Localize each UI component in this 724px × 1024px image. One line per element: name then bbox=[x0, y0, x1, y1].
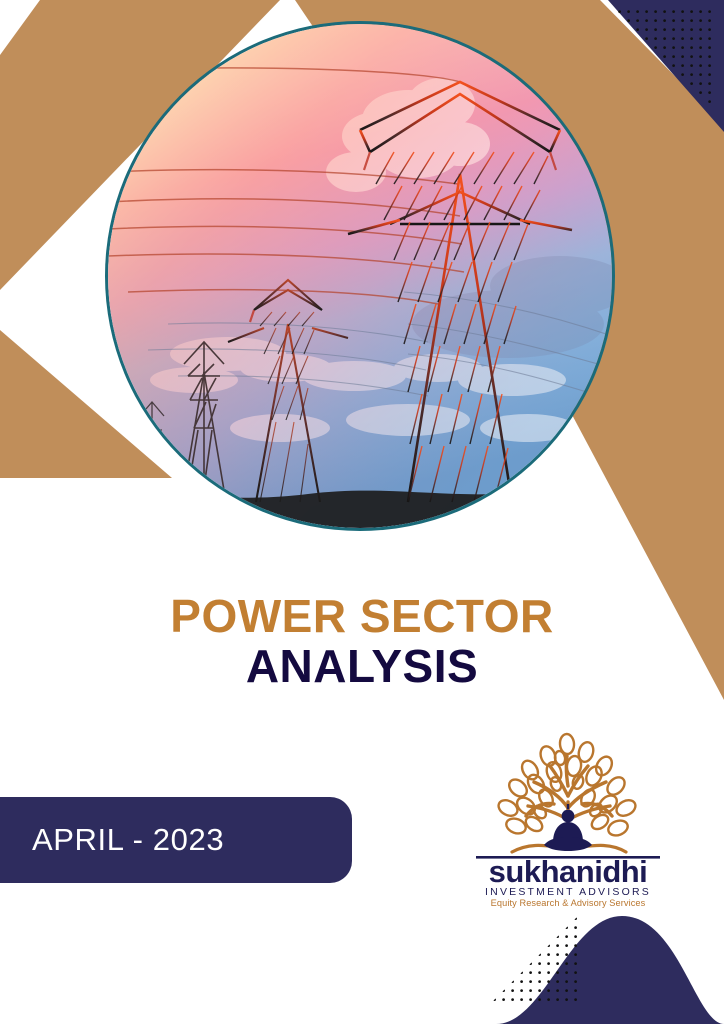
corner-ornament-bottom-right bbox=[474, 898, 724, 1024]
date-badge: APRIL - 2023 bbox=[0, 797, 352, 883]
title-secondary: ANALYSIS bbox=[0, 642, 724, 692]
date-badge-label: APRIL - 2023 bbox=[32, 822, 224, 858]
svg-text:sukhanidhi: sukhanidhi bbox=[489, 854, 648, 889]
cover-title-block: POWER SECTOR ANALYSIS bbox=[0, 592, 724, 691]
svg-text:Equity Research & Advisory Ser: Equity Research & Advisory Services bbox=[491, 898, 646, 908]
dot-grid-overlay bbox=[590, 0, 724, 132]
dot-grid-overlay bbox=[474, 898, 724, 1024]
navy-triangle-shape bbox=[608, 0, 724, 132]
report-cover-page: POWER SECTOR ANALYSIS APRIL - 2023 bbox=[0, 0, 724, 1024]
brand-tagline: Equity Research & Advisory Services bbox=[491, 898, 646, 908]
transmission-towers-illustration bbox=[108, 24, 612, 528]
company-logo: sukhanidhi sukhanidhi INVESTMENT ADVISOR… bbox=[468, 712, 668, 908]
brand-subtitle: INVESTMENT ADVISORS bbox=[485, 886, 651, 898]
svg-text:INVESTMENT ADVISORS: INVESTMENT ADVISORS bbox=[485, 886, 651, 898]
brand-wordmark: sukhanidhi bbox=[489, 854, 648, 889]
corner-ornament-top-right bbox=[590, 0, 724, 132]
navy-hill-shape bbox=[496, 916, 724, 1024]
hero-image-circle bbox=[108, 24, 612, 528]
title-primary: POWER SECTOR bbox=[0, 592, 724, 642]
